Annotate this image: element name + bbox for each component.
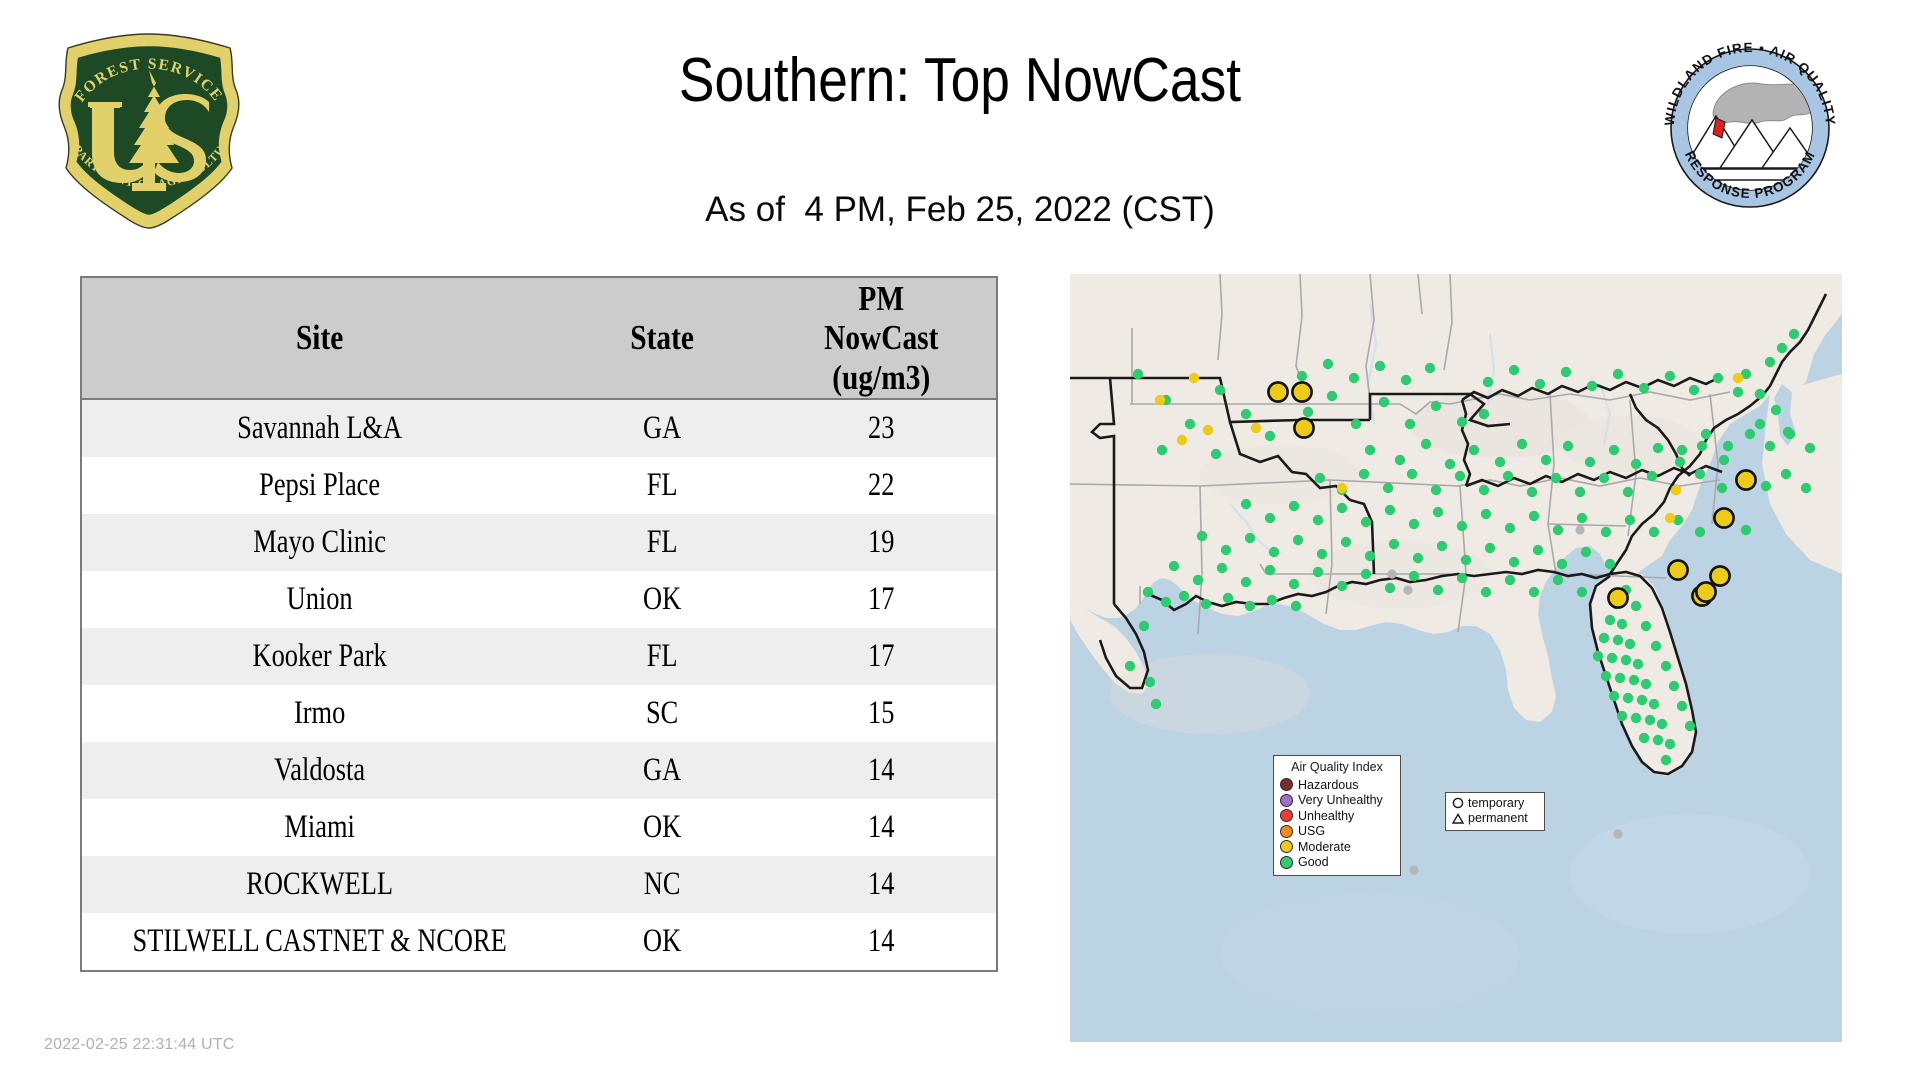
map-marker-good[interactable] [1631, 459, 1641, 469]
temporary-circle-icon [1451, 797, 1465, 811]
cell-pm-nowcast: 17 [790, 571, 973, 628]
cell-state: GA [578, 742, 746, 799]
map-marker-good[interactable] [1677, 701, 1687, 711]
map-marker-good[interactable] [1553, 525, 1563, 535]
map-marker-good[interactable] [1337, 503, 1347, 513]
table-row: Pepsi PlaceFL22 [82, 457, 996, 514]
cell-site: Miami [130, 799, 510, 856]
map-marker-good[interactable] [1777, 343, 1787, 353]
map-marker-good[interactable] [1241, 409, 1251, 419]
table-body: Savannah L&AGA23Pepsi PlaceFL22Mayo Clin… [82, 399, 996, 970]
map-marker-good[interactable] [1223, 593, 1233, 603]
map-marker-good[interactable] [1313, 515, 1323, 525]
map-marker-moderate[interactable] [1155, 395, 1165, 405]
map-marker-good[interactable] [1637, 695, 1647, 705]
map-marker-good[interactable] [1533, 545, 1543, 555]
wfaqrp-badge-svg: WILDLAND FIRE • AIR QUALITY RESPONSE PRO… [1650, 28, 1850, 228]
aqi-legend-dot-icon [1280, 856, 1293, 869]
map-marker-good[interactable] [1695, 527, 1705, 537]
map-marker-top-site[interactable] [1696, 582, 1715, 601]
permanent-triangle-icon [1451, 812, 1465, 826]
cell-pm-nowcast: 22 [790, 457, 973, 514]
map-marker-good[interactable] [1675, 457, 1685, 467]
table-row: ROCKWELLNC14 [82, 856, 996, 913]
map-marker-good[interactable] [1157, 445, 1167, 455]
map-marker-good[interactable] [1315, 473, 1325, 483]
column-header-pm-nowcast: PM NowCast (ug/m3) [786, 278, 978, 399]
map-marker-good[interactable] [1535, 379, 1545, 389]
site-type-legend: temporary permanent [1445, 792, 1545, 831]
cell-pm-nowcast: 17 [790, 628, 973, 685]
map-marker-moderate[interactable] [1203, 425, 1213, 435]
map-marker-good[interactable] [1541, 455, 1551, 465]
map-marker-good[interactable] [1341, 537, 1351, 547]
map-marker-good[interactable] [1485, 543, 1495, 553]
map-marker-good[interactable] [1217, 563, 1227, 573]
aqi-legend-label: Hazardous [1298, 779, 1358, 792]
map-marker-good[interactable] [1433, 507, 1443, 517]
cell-site: ROCKWELL [130, 856, 510, 913]
map-marker-good[interactable] [1161, 597, 1171, 607]
site-type-legend-label-permanent: permanent [1468, 812, 1528, 825]
cell-site: Savannah L&A [130, 399, 510, 457]
map-marker-good[interactable] [1601, 671, 1611, 681]
map-marker-good[interactable] [1383, 483, 1393, 493]
map-marker-good[interactable] [1629, 675, 1639, 685]
map-marker-good[interactable] [1805, 443, 1815, 453]
cell-state: FL [578, 514, 746, 571]
wfaqrp-badge-logo: WILDLAND FIRE • AIR QUALITY RESPONSE PRO… [1650, 28, 1850, 228]
map-marker-good[interactable] [1581, 547, 1591, 557]
page-title: Southern: Top NowCast [134, 48, 1785, 113]
map-marker-moderate[interactable] [1665, 513, 1675, 523]
aqi-legend-label: Good [1298, 856, 1329, 869]
map-marker-good[interactable] [1631, 601, 1641, 611]
map-marker-good[interactable] [1701, 429, 1711, 439]
map-marker-moderate[interactable] [1733, 373, 1743, 383]
cell-state: OK [578, 913, 746, 970]
map-marker-top-site[interactable] [1714, 508, 1733, 527]
map-marker-good[interactable] [1577, 587, 1587, 597]
column-header-pm-line3: (ug/m3) [786, 358, 978, 397]
map-marker-good[interactable] [1593, 651, 1603, 661]
aqi-legend-dot-icon [1280, 809, 1293, 822]
map-marker-good[interactable] [1445, 459, 1455, 469]
table-row: UnionOK17 [82, 571, 996, 628]
map-marker-good[interactable] [1413, 553, 1423, 563]
map-marker-good[interactable] [1479, 485, 1489, 495]
map-marker-good[interactable] [1481, 587, 1491, 597]
map-marker-good[interactable] [1677, 445, 1687, 455]
map-marker-good[interactable] [1469, 445, 1479, 455]
table-row: Mayo ClinicFL19 [82, 514, 996, 571]
map-marker-good[interactable] [1623, 693, 1633, 703]
cell-site: Irmo [130, 685, 510, 742]
map-marker-good[interactable] [1351, 419, 1361, 429]
cell-state: NC [578, 856, 746, 913]
cell-site: Valdosta [130, 742, 510, 799]
map-marker-good[interactable] [1125, 661, 1135, 671]
map-marker-good[interactable] [1529, 511, 1539, 521]
map-marker-good[interactable] [1461, 555, 1471, 565]
map-marker-nodata[interactable] [1613, 829, 1622, 838]
cell-state: GA [578, 399, 746, 457]
map-marker-good[interactable] [1245, 533, 1255, 543]
map-marker-good[interactable] [1479, 409, 1489, 419]
map-marker-good[interactable] [1633, 659, 1643, 669]
map-marker-good[interactable] [1293, 535, 1303, 545]
map-marker-good[interactable] [1455, 471, 1465, 481]
map-marker-good[interactable] [1723, 441, 1733, 451]
map-marker-good[interactable] [1641, 679, 1651, 689]
map-marker-good[interactable] [1551, 473, 1561, 483]
map-marker-good[interactable] [1781, 469, 1791, 479]
table-row: Kooker ParkFL17 [82, 628, 996, 685]
table-row: Savannah L&AGA23 [82, 399, 996, 457]
aqi-legend-dot-icon [1280, 825, 1293, 838]
map-marker-good[interactable] [1483, 377, 1493, 387]
map-marker-good[interactable] [1401, 375, 1411, 385]
cell-pm-nowcast: 14 [790, 742, 973, 799]
aqi-legend-row: Unhealthy [1280, 808, 1394, 824]
map-marker-moderate[interactable] [1337, 483, 1347, 493]
map-marker-moderate[interactable] [1189, 373, 1199, 383]
cell-state: FL [578, 628, 746, 685]
map-marker-moderate[interactable] [1251, 423, 1261, 433]
aqi-legend-label: Very Unhealthy [1298, 794, 1383, 807]
map-marker-good[interactable] [1733, 387, 1743, 397]
site-type-legend-label-temporary: temporary [1468, 797, 1524, 810]
map-marker-good[interactable] [1395, 455, 1405, 465]
map-marker-good[interactable] [1765, 441, 1775, 451]
cell-pm-nowcast: 14 [790, 856, 973, 913]
map-marker-good[interactable] [1621, 655, 1631, 665]
map-marker-good[interactable] [1609, 691, 1619, 701]
map-marker-good[interactable] [1713, 373, 1723, 383]
map-marker-good[interactable] [1689, 385, 1699, 395]
aqi-legend-row: Moderate [1280, 839, 1394, 855]
map-marker-good[interactable] [1801, 483, 1811, 493]
map-marker-moderate[interactable] [1177, 435, 1187, 445]
map-marker-good[interactable] [1625, 639, 1635, 649]
map-marker-good[interactable] [1481, 509, 1491, 519]
map-marker-good[interactable] [1561, 367, 1571, 377]
map-marker-good[interactable] [1661, 755, 1671, 765]
cell-site: Union [130, 571, 510, 628]
map-marker-good[interactable] [1529, 587, 1539, 597]
map-marker-good[interactable] [1201, 599, 1211, 609]
map-marker-good[interactable] [1609, 445, 1619, 455]
map-marker-good[interactable] [1143, 587, 1153, 597]
map-marker-good[interactable] [1517, 439, 1527, 449]
table-header-row: Site State PM NowCast (ug/m3) [82, 278, 996, 399]
map-marker-good[interactable] [1717, 483, 1727, 493]
map-marker-good[interactable] [1457, 521, 1467, 531]
map-marker-good[interactable] [1193, 575, 1203, 585]
map-marker-good[interactable] [1405, 419, 1415, 429]
map-marker-top-site[interactable] [1736, 470, 1755, 489]
map-marker-good[interactable] [1437, 541, 1447, 551]
map-marker-good[interactable] [1741, 525, 1751, 535]
cell-pm-nowcast: 19 [790, 514, 973, 571]
aqi-legend-row: Hazardous [1280, 777, 1394, 793]
cell-pm-nowcast: 15 [790, 685, 973, 742]
map-marker-good[interactable] [1623, 487, 1633, 497]
map-marker-good[interactable] [1297, 371, 1307, 381]
map-marker-good[interactable] [1631, 713, 1641, 723]
map-marker-good[interactable] [1375, 361, 1385, 371]
map-marker-good[interactable] [1431, 401, 1441, 411]
cell-state: OK [578, 799, 746, 856]
map-marker-good[interactable] [1617, 619, 1627, 629]
map-marker-good[interactable] [1647, 471, 1657, 481]
map-marker-nodata[interactable] [1387, 569, 1396, 578]
map-marker-good[interactable] [1211, 449, 1221, 459]
map-marker-good[interactable] [1669, 681, 1679, 691]
table-header: Site State PM NowCast (ug/m3) [82, 278, 996, 399]
map-marker-good[interactable] [1641, 621, 1651, 631]
map-marker-good[interactable] [1145, 677, 1155, 687]
map-marker-good[interactable] [1265, 431, 1275, 441]
map-marker-good[interactable] [1657, 719, 1667, 729]
map-marker-good[interactable] [1615, 673, 1625, 683]
map-marker-good[interactable] [1789, 329, 1799, 339]
map-marker-top-site[interactable] [1710, 566, 1729, 585]
map-marker-good[interactable] [1505, 523, 1515, 533]
table-row: ValdostaGA14 [82, 742, 996, 799]
map-marker-good[interactable] [1361, 569, 1371, 579]
map-marker-good[interactable] [1653, 735, 1663, 745]
map-marker-good[interactable] [1601, 527, 1611, 537]
map-marker-good[interactable] [1389, 539, 1399, 549]
map-marker-good[interactable] [1303, 407, 1313, 417]
aqi-legend-label: Unhealthy [1298, 810, 1354, 823]
cell-state: FL [578, 457, 746, 514]
map-marker-good[interactable] [1755, 419, 1765, 429]
map-marker-good[interactable] [1337, 581, 1347, 591]
map-marker-good[interactable] [1719, 455, 1729, 465]
map-marker-good[interactable] [1359, 469, 1369, 479]
column-header-pm-line1: PM [786, 279, 978, 318]
column-header-site-label: Site [296, 318, 343, 357]
map-marker-good[interactable] [1431, 485, 1441, 495]
map-marker-good[interactable] [1269, 547, 1279, 557]
map-marker-good[interactable] [1605, 615, 1615, 625]
map-marker-good[interactable] [1407, 469, 1417, 479]
map-marker-nodata[interactable] [1403, 585, 1412, 594]
map-marker-good[interactable] [1617, 711, 1627, 721]
column-header-site: Site [120, 278, 519, 399]
map-marker-good[interactable] [1587, 381, 1597, 391]
map-marker-good[interactable] [1685, 721, 1695, 731]
cell-state: OK [578, 571, 746, 628]
cell-pm-nowcast: 14 [790, 799, 973, 856]
map-marker-good[interactable] [1509, 365, 1519, 375]
map-marker-good[interactable] [1139, 621, 1149, 631]
map-marker-good[interactable] [1765, 357, 1775, 367]
map-marker-good[interactable] [1265, 513, 1275, 523]
aqi-legend-row: Good [1280, 855, 1394, 871]
map-marker-good[interactable] [1651, 641, 1661, 651]
map-marker-good[interactable] [1425, 363, 1435, 373]
map-marker-good[interactable] [1755, 389, 1765, 399]
map-marker-good[interactable] [1585, 457, 1595, 467]
nowcast-table-container: Site State PM NowCast (ug/m3) Savannah L… [80, 276, 998, 972]
map-marker-nodata[interactable] [1575, 525, 1584, 534]
map-marker-good[interactable] [1457, 573, 1467, 583]
map-svg [1070, 274, 1842, 1042]
site-type-legend-row-temporary: temporary [1451, 796, 1539, 811]
map-marker-good[interactable] [1553, 575, 1563, 585]
map-marker-good[interactable] [1349, 373, 1359, 383]
column-header-state: State [574, 278, 751, 399]
map-marker-good[interactable] [1613, 635, 1623, 645]
map-marker-good[interactable] [1695, 469, 1705, 479]
column-header-state-label: State [631, 318, 695, 357]
aqi-legend-dot-icon [1280, 778, 1293, 791]
map-marker-good[interactable] [1179, 591, 1189, 601]
map-marker-good[interactable] [1317, 549, 1327, 559]
cell-pm-nowcast: 23 [790, 399, 973, 457]
aqi-legend-dot-icon [1280, 840, 1293, 853]
map-marker-good[interactable] [1649, 527, 1659, 537]
map-marker-good[interactable] [1745, 429, 1755, 439]
cell-site: STILWELL CASTNET & NCORE [130, 913, 510, 970]
table-row: IrmoSC15 [82, 685, 996, 742]
map-marker-good[interactable] [1495, 457, 1505, 467]
air-quality-map[interactable]: Air Quality Index HazardousVery Unhealth… [1070, 274, 1842, 1042]
map-marker-good[interactable] [1289, 501, 1299, 511]
map-marker-good[interactable] [1133, 369, 1143, 379]
aqi-legend-label: Moderate [1298, 841, 1351, 854]
map-marker-good[interactable] [1197, 531, 1207, 541]
site-type-legend-row-permanent: permanent [1451, 811, 1539, 826]
aqi-legend: Air Quality Index HazardousVery Unhealth… [1273, 755, 1401, 876]
map-marker-good[interactable] [1661, 661, 1671, 671]
map-marker-good[interactable] [1365, 551, 1375, 561]
map-marker-good[interactable] [1185, 419, 1195, 429]
map-marker-good[interactable] [1625, 515, 1635, 525]
map-marker-good[interactable] [1245, 601, 1255, 611]
map-marker-good[interactable] [1409, 519, 1419, 529]
map-marker-good[interactable] [1503, 471, 1513, 481]
map-marker-good[interactable] [1433, 585, 1443, 595]
map-marker-good[interactable] [1639, 733, 1649, 743]
map-marker-top-site[interactable] [1294, 418, 1313, 437]
footer-timestamp: 2022-02-25 22:31:44 UTC [44, 1036, 235, 1054]
map-marker-good[interactable] [1457, 417, 1467, 427]
nowcast-table: Site State PM NowCast (ug/m3) Savannah L… [82, 278, 996, 970]
map-marker-good[interactable] [1697, 441, 1707, 451]
map-marker-good[interactable] [1527, 487, 1537, 497]
map-marker-good[interactable] [1267, 595, 1277, 605]
map-marker-good[interactable] [1361, 517, 1371, 527]
map-marker-good[interactable] [1215, 385, 1225, 395]
aqi-legend-row: USG [1280, 824, 1394, 840]
aqi-legend-row: Very Unhealthy [1280, 793, 1394, 809]
map-marker-top-site[interactable] [1292, 382, 1311, 401]
map-marker-good[interactable] [1575, 487, 1585, 497]
cell-state: SC [578, 685, 746, 742]
map-marker-good[interactable] [1151, 699, 1161, 709]
map-marker-good[interactable] [1785, 429, 1795, 439]
map-marker-good[interactable] [1599, 473, 1609, 483]
map-marker-good[interactable] [1365, 445, 1375, 455]
map-marker-good[interactable] [1241, 499, 1251, 509]
table-row: MiamiOK14 [82, 799, 996, 856]
map-marker-good[interactable] [1557, 559, 1567, 569]
map-marker-good[interactable] [1323, 359, 1333, 369]
map-marker-good[interactable] [1771, 405, 1781, 415]
cell-site: Kooker Park [130, 628, 510, 685]
map-marker-top-site[interactable] [1268, 382, 1287, 401]
map-marker-good[interactable] [1665, 739, 1675, 749]
aqi-legend-rows: HazardousVery UnhealthyUnhealthyUSGModer… [1280, 777, 1394, 870]
cell-pm-nowcast: 14 [790, 913, 973, 970]
map-marker-good[interactable] [1645, 715, 1655, 725]
map-marker-good[interactable] [1169, 561, 1179, 571]
map-marker-good[interactable] [1379, 397, 1389, 407]
map-marker-good[interactable] [1563, 441, 1573, 451]
map-marker-good[interactable] [1665, 371, 1675, 381]
map-marker-good[interactable] [1241, 577, 1251, 587]
map-marker-good[interactable] [1607, 653, 1617, 663]
map-marker-good[interactable] [1385, 583, 1395, 593]
map-marker-top-site[interactable] [1608, 588, 1627, 607]
map-marker-good[interactable] [1409, 571, 1419, 581]
map-marker-good[interactable] [1613, 369, 1623, 379]
map-marker-good[interactable] [1289, 579, 1299, 589]
map-marker-good[interactable] [1291, 601, 1301, 611]
map-marker-good[interactable] [1653, 443, 1663, 453]
map-marker-top-site[interactable] [1668, 560, 1687, 579]
map-marker-good[interactable] [1313, 567, 1323, 577]
map-marker-good[interactable] [1221, 545, 1231, 555]
cell-site: Pepsi Place [130, 457, 510, 514]
cell-site: Mayo Clinic [130, 514, 510, 571]
map-marker-good[interactable] [1577, 513, 1587, 523]
map-marker-good[interactable] [1599, 633, 1609, 643]
aqi-legend-title: Air Quality Index [1280, 760, 1394, 774]
map-marker-good[interactable] [1509, 557, 1519, 567]
map-marker-good[interactable] [1505, 575, 1515, 585]
map-marker-good[interactable] [1421, 439, 1431, 449]
map-marker-moderate[interactable] [1671, 485, 1681, 495]
map-marker-good[interactable] [1605, 559, 1615, 569]
map-marker-good[interactable] [1327, 391, 1337, 401]
map-marker-good[interactable] [1761, 481, 1771, 491]
table-row: STILWELL CASTNET & NCOREOK14 [82, 913, 996, 970]
map-marker-good[interactable] [1649, 699, 1659, 709]
map-marker-good[interactable] [1265, 565, 1275, 575]
aqi-legend-label: USG [1298, 825, 1325, 838]
aqi-legend-dot-icon [1280, 794, 1293, 807]
map-marker-good[interactable] [1639, 383, 1649, 393]
column-header-pm-line2: NowCast [786, 318, 978, 357]
map-marker-good[interactable] [1385, 505, 1395, 515]
page-subtitle: As of 4 PM, Feb 25, 2022 (CST) [0, 190, 1920, 230]
map-marker-nodata[interactable] [1409, 865, 1418, 874]
